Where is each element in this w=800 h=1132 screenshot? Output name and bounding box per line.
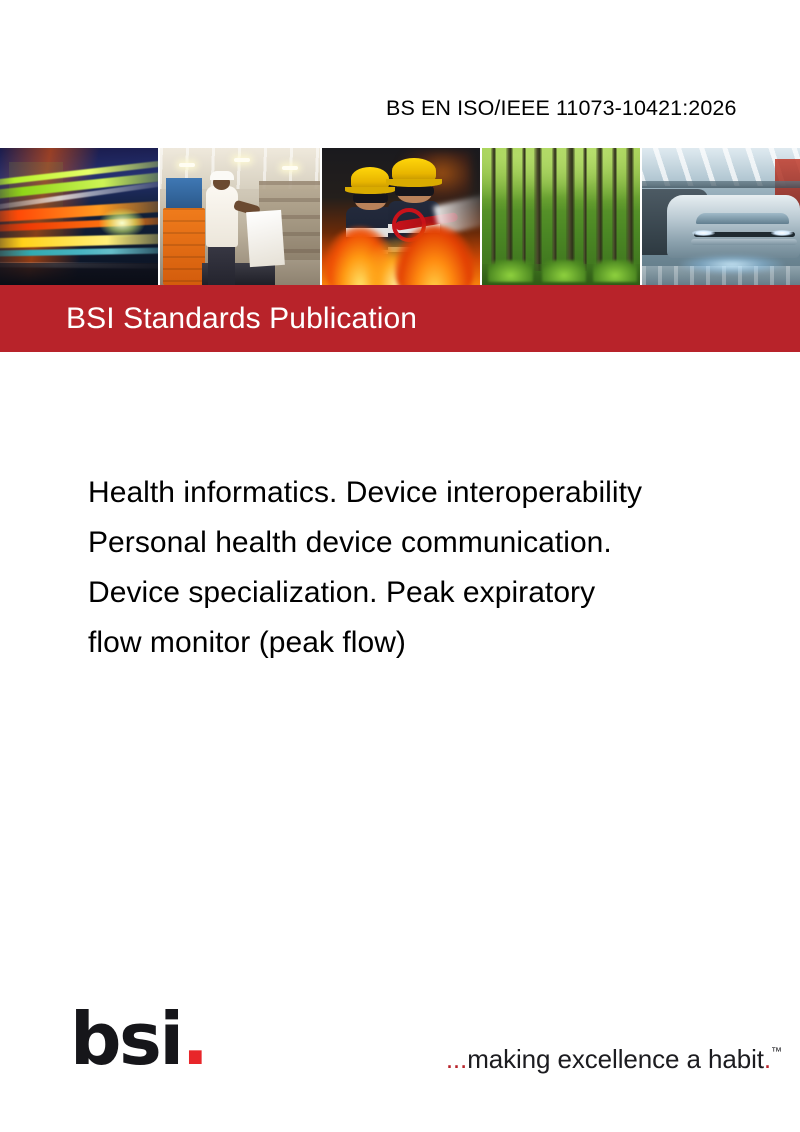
car-headlight (692, 230, 715, 236)
ceiling-light (282, 166, 298, 170)
tree-trunk (534, 148, 542, 271)
bsi-standards-banner: BSI Standards Publication (0, 285, 800, 352)
light-trail-streak (0, 248, 160, 258)
firefighters-photo (322, 148, 482, 285)
trademark-icon: ™ (771, 1046, 782, 1058)
tagline-period: . (764, 1044, 771, 1074)
car-body (667, 195, 800, 258)
tree-trunk (626, 148, 634, 271)
firefighter-mask (353, 193, 388, 202)
forest-photo (482, 148, 642, 285)
tagline-leading-ellipsis: ... (446, 1044, 467, 1074)
undergrowth (542, 260, 586, 282)
cover-photo-strip (0, 148, 800, 285)
title-line-1: Health informatics. Device interoperabil… (88, 468, 748, 518)
ceiling-light (234, 158, 250, 162)
blue-crate (166, 178, 201, 208)
tree-trunk (612, 148, 617, 271)
helmet-brim (386, 179, 441, 187)
car-bumper (691, 239, 797, 245)
worker-legs (208, 241, 235, 285)
headlight-glow (99, 208, 145, 238)
tree-trunk (552, 148, 557, 271)
overhead-beam (642, 181, 800, 188)
tree-trunk (566, 148, 575, 271)
standard-number-text: BS EN ISO/IEEE 11073-10421:2026 (386, 93, 737, 123)
title-line-2: Personal health device communication. (88, 518, 748, 568)
banner-label: BSI Standards Publication (66, 301, 417, 337)
warehouse-worker-photo (160, 148, 322, 285)
tree-trunk (522, 148, 526, 271)
standard-number-header: BS EN ISO/IEEE 11073-10421:2026 (0, 93, 800, 127)
orange-crate (163, 208, 205, 285)
bsi-logo-dot: . (182, 997, 207, 1081)
firefighter-mask (395, 186, 435, 196)
automotive-assembly-photo (642, 148, 800, 285)
worker-sheet (246, 210, 285, 267)
tree-trunk (583, 148, 587, 271)
ceiling-light (179, 163, 195, 167)
title-line-3: Device specialization. Peak expiratory (88, 568, 748, 618)
tree-trunk (491, 148, 496, 271)
tree-trunk (506, 148, 513, 271)
page-footer: bsi. ...making excellence a habit.™ (0, 1000, 800, 1100)
worker-cap (210, 171, 234, 181)
undergrowth (488, 260, 532, 282)
worker-torso (206, 186, 238, 246)
road-surface (0, 263, 158, 285)
tree-trunk (596, 148, 603, 271)
bsi-tagline: ...making excellence a habit.™ (446, 1036, 782, 1075)
tagline-text: making excellence a habit (467, 1044, 764, 1074)
traffic-light-trails-photo (0, 148, 160, 285)
undergrowth (593, 260, 637, 282)
inspection-light-glow (680, 255, 784, 274)
document-title: Health informatics. Device interoperabil… (88, 468, 748, 668)
car-windshield (696, 213, 789, 223)
title-line-4: flow monitor (peak flow) (88, 618, 748, 668)
bsi-logo: bsi. (70, 1000, 206, 1078)
bsi-logo-text: bsi (70, 997, 182, 1081)
car-headlight (771, 230, 794, 236)
